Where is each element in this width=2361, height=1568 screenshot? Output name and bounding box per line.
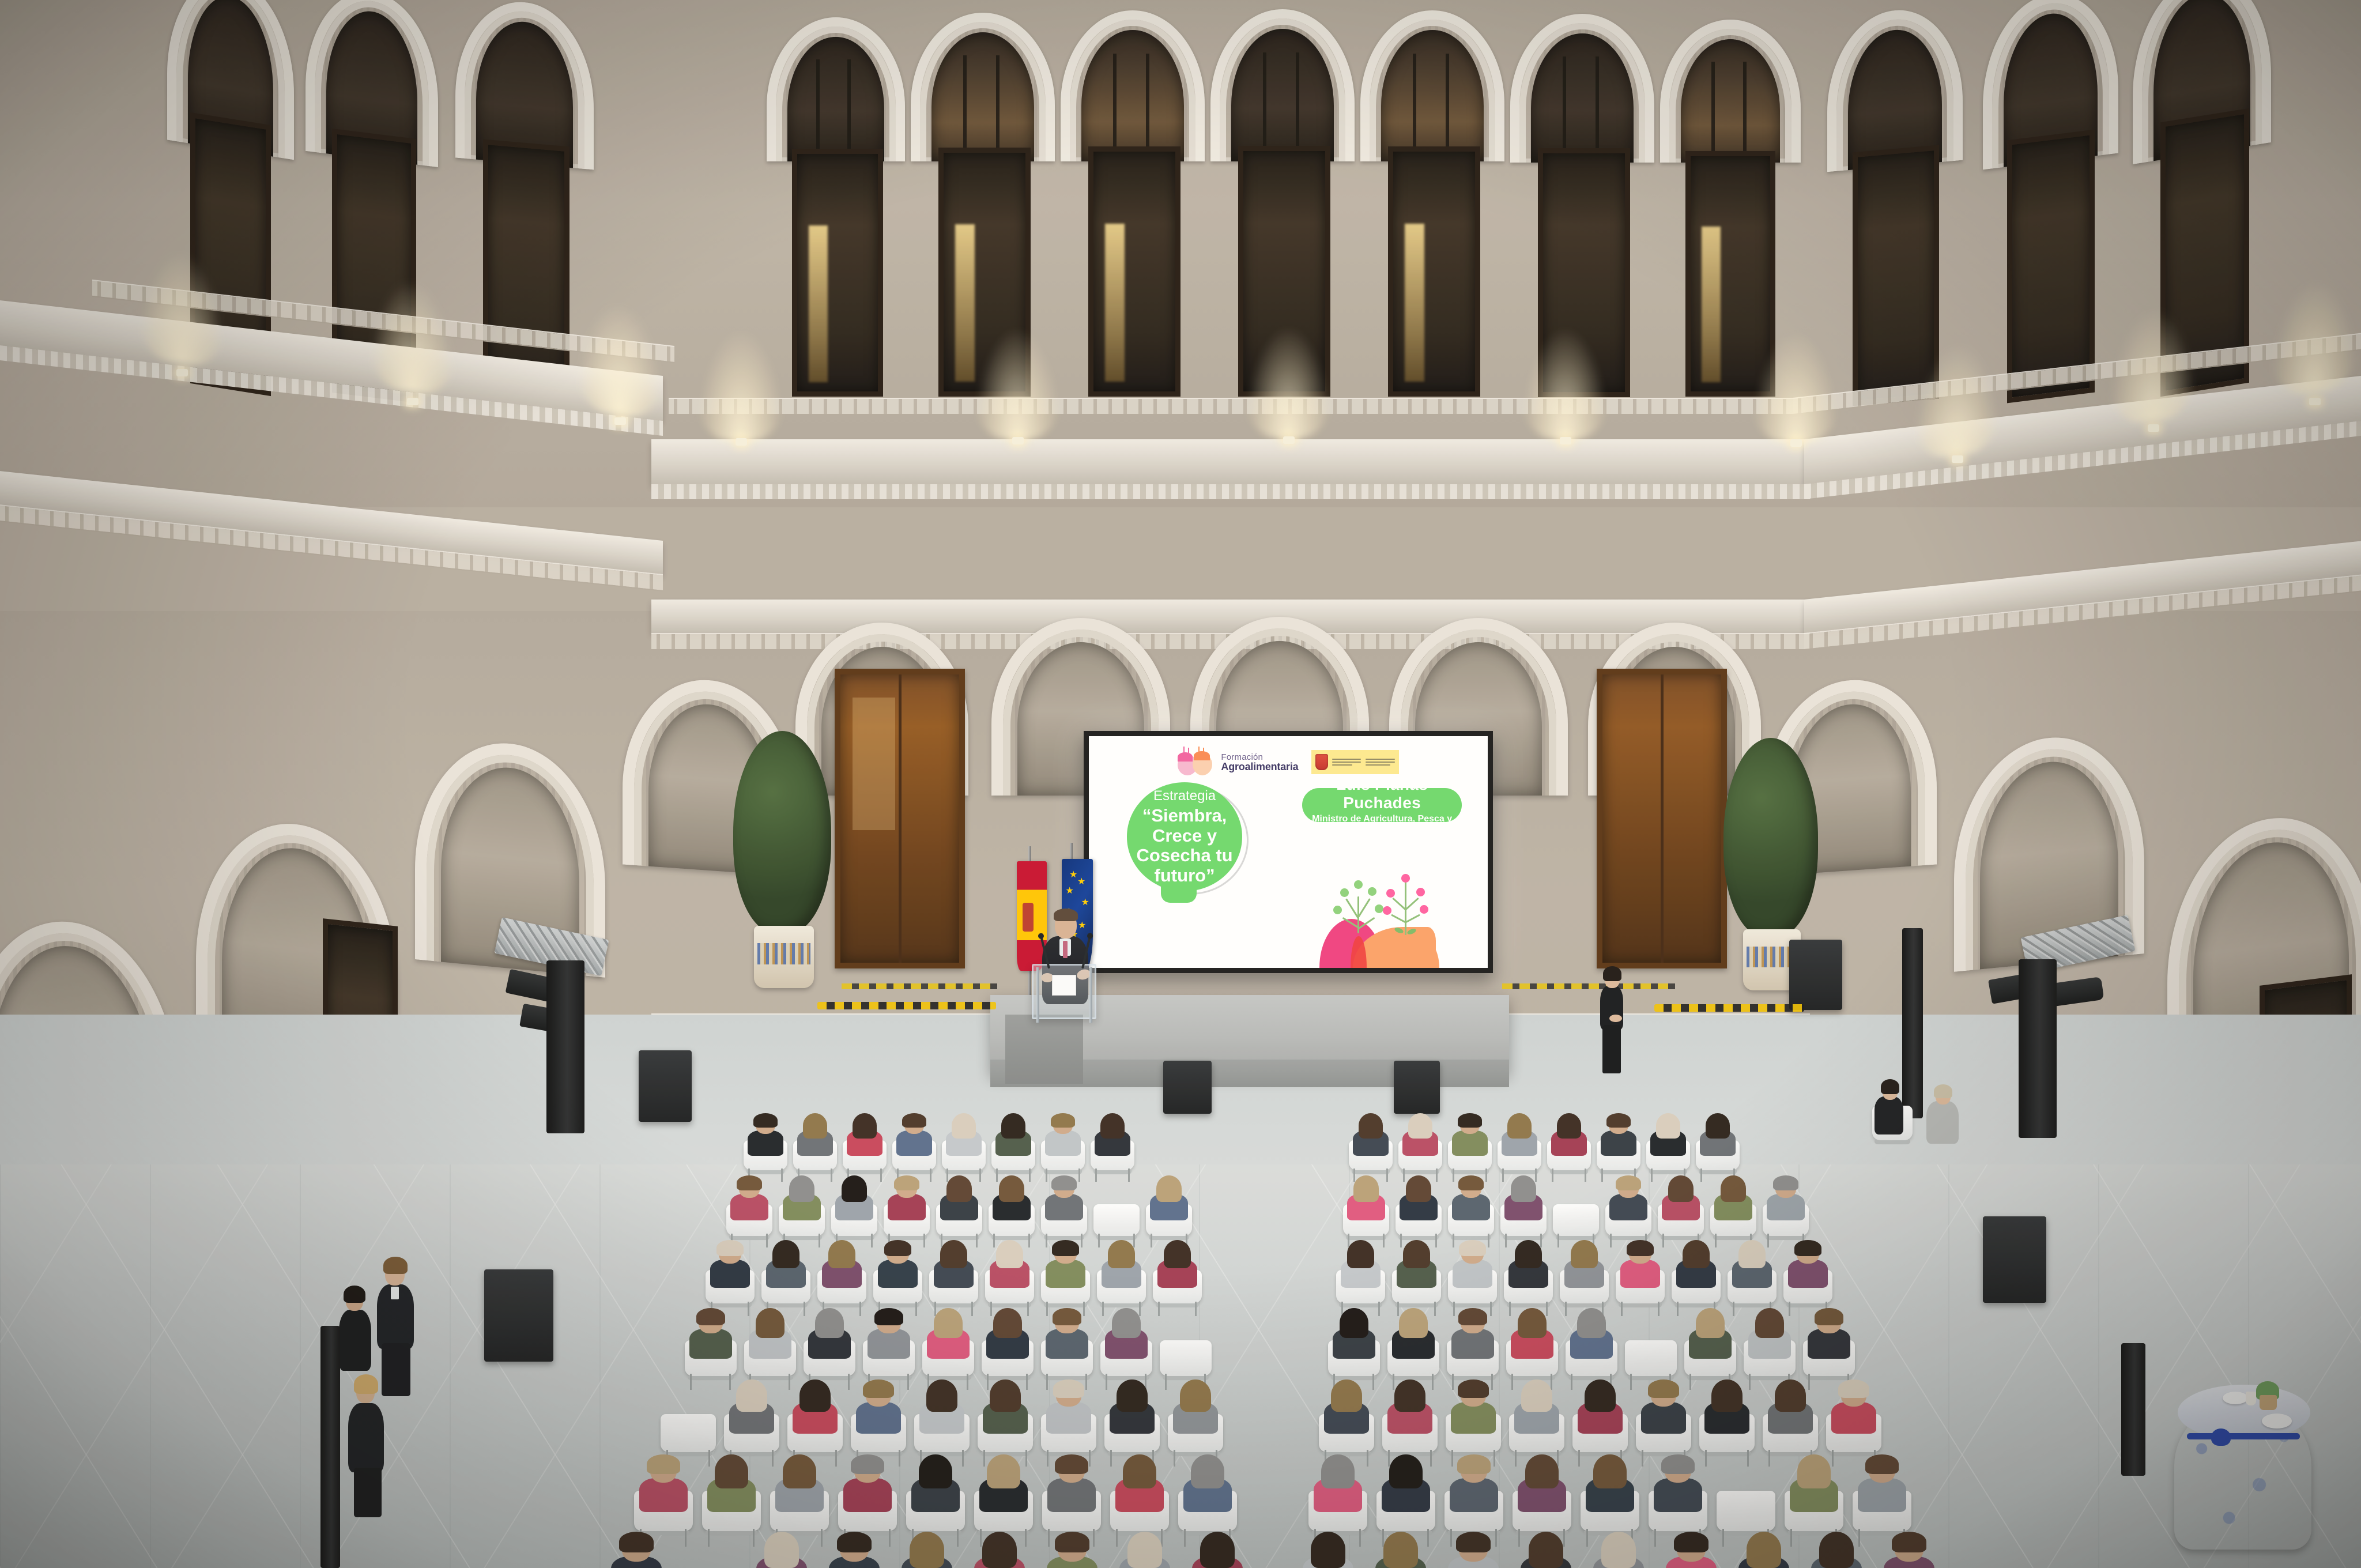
chair-leg [1654,1529,1656,1547]
audience-seat [1658,1175,1704,1238]
audience-seat [1649,1454,1707,1535]
audience-person-torso [1046,1260,1086,1288]
audience-person-hair [1711,1379,1743,1411]
audience-person-hair [789,1175,815,1202]
audience-seat [1597,1113,1640,1173]
audience-person-torso [1453,1260,1493,1288]
audience-seat [873,1239,922,1306]
audience-person-hair [987,1454,1020,1488]
speaker-hair [1054,909,1078,921]
speaker-tie [1063,941,1068,958]
audience-seat [1636,1379,1691,1455]
audience-seat [1878,1531,1940,1568]
audience-seat [1803,1307,1855,1379]
audience-seat [942,1113,986,1173]
audience-person-hair [1557,1113,1582,1139]
audience-seat [787,1379,843,1455]
audience-chair [1553,1204,1599,1236]
audience-person-hair [815,1308,844,1338]
audience-seat [793,1113,837,1173]
spain-coat-of-arms [1023,903,1034,931]
audience-person-hair [1773,1175,1799,1190]
audience-seat [1297,1531,1359,1568]
audience-seat [884,1175,930,1238]
audience-seat [1572,1379,1628,1455]
table-bow-ribbon [2187,1433,2300,1439]
audience-person-hair [1180,1379,1211,1411]
chair-leg [1621,1302,1623,1317]
chair-leg [1557,1234,1559,1247]
table-plate-2 [2262,1414,2292,1428]
audience-person-torso [1831,1402,1877,1434]
staff-hair [1603,966,1621,981]
audience-seat [1160,1307,1212,1379]
audience-chair [1160,1340,1212,1376]
subwoofer-left-lower [484,1269,553,1362]
audience-person-hair [1794,1240,1822,1256]
subwoofer-left [639,1050,692,1122]
uplight-fixture-right-2 [2148,424,2159,432]
audience-seat [982,1307,1034,1379]
audience-seat [929,1239,978,1306]
audience-seat [1091,1113,1134,1173]
audience-seat [1646,1113,1690,1173]
chair-leg [1722,1529,1724,1547]
audience-person-hair [1340,1308,1368,1338]
chair-leg [1630,1374,1632,1389]
audience-person-hair [946,1175,972,1202]
audience-seat [1763,1379,1818,1455]
audience-person-hair [1529,1532,1563,1567]
audience-person-hair [715,1454,748,1488]
audience-seat [1587,1531,1650,1568]
podium-emblem-plate [1052,975,1076,996]
upper-arch-right-a [1827,5,1963,172]
audience-chair [661,1414,716,1452]
staff-torso [1600,986,1623,1030]
speaker-stack-right [2019,959,2057,1138]
audience-seat [1376,1454,1435,1535]
audience-person-hair [1585,1379,1616,1411]
audience-seat [1370,1531,1432,1568]
audience-person-torso [730,1194,768,1220]
audience-person-torso [856,1402,902,1434]
chair-leg [821,1529,823,1547]
audience-person-hair [772,1240,800,1268]
audience-seat [1097,1239,1146,1306]
audience-person-torso [1452,1130,1488,1156]
gallery-window-6 [1538,148,1630,397]
chair-leg [1165,1374,1167,1389]
audience-seat [1763,1175,1809,1238]
audience-seat [1448,1175,1494,1238]
audience-person-hair [803,1113,828,1139]
audience-seat [1446,1379,1501,1455]
audience-person-torso [1451,1402,1496,1434]
audience-person-hair [1117,1379,1148,1411]
audience-seat [1387,1307,1439,1379]
subwoofer-right [1789,940,1842,1010]
audience-person-hair [853,1113,877,1139]
podium-leg-left [1036,967,1039,1023]
audience-seat [1625,1307,1677,1379]
audience-person-hair [1838,1379,1869,1398]
audience-seat [1733,1531,1795,1568]
uplight-fixture-5 [1790,439,1802,447]
audience-person-hair [1055,1532,1089,1552]
audience-person-hair [842,1175,868,1202]
audience-person-torso [888,1194,926,1220]
audience-seat [1336,1239,1385,1306]
audience-person-hair [1511,1175,1537,1202]
audience-seat [817,1239,866,1306]
audience-seat [1396,1175,1442,1238]
audience-person-hair [1051,1175,1077,1190]
audience-person-hair [902,1113,927,1128]
audience-person-hair [952,1113,976,1139]
audience-seat [1783,1239,1832,1306]
upper-arch-7 [1660,20,1801,163]
upper-arch-5 [1360,10,1504,161]
audience-seat [1672,1239,1721,1306]
two-faces-icon [1178,747,1216,778]
audience-seat [724,1379,779,1455]
audience-person-hair [1865,1454,1898,1474]
speaker-column-left-foreground [320,1326,340,1568]
potted-plant-left [727,731,843,996]
audience-seat [761,1239,810,1306]
audience-chair [1717,1491,1775,1531]
audience-seat [1343,1175,1389,1238]
audience-person-hair [1815,1308,1843,1325]
audience-seat [1041,1307,1093,1379]
gallery-window-4 [1238,146,1330,397]
audience-seat [823,1531,885,1568]
audience-seat [1104,1379,1160,1455]
chair-leg [915,1302,917,1317]
audience-person-hair [716,1240,744,1256]
gallery-window-right-a [1853,145,1939,406]
audience-seat [1504,1239,1553,1306]
audience-seat [1448,1113,1492,1173]
audience-person-hair [1458,1308,1487,1325]
chair-leg [899,1450,900,1467]
audience-seat [770,1454,829,1535]
audience-person-hair [1112,1308,1141,1338]
speaker-role: Ministro de Agricultura, Pesca y Aliment… [1302,814,1462,835]
audience-person-hair [1525,1454,1558,1488]
audience-person-hair [647,1454,680,1474]
chair-leg [1578,1450,1580,1467]
audience-person-hair [1383,1532,1418,1567]
audience-seat [843,1113,887,1173]
audience-seat [906,1454,965,1535]
audience-person-torso [1641,1402,1687,1434]
audience-person-hair [1706,1113,1730,1139]
audience-person-hair [1156,1175,1182,1202]
audience-person-torso [1808,1329,1850,1359]
audience-seat [1041,1175,1087,1238]
uplight-fixture-2 [1012,437,1024,444]
audience-seat [1605,1175,1651,1238]
audience-person-hair [1577,1308,1606,1338]
audience-person-hair [926,1379,957,1411]
audience-person-torso [1601,1130,1636,1156]
audience-person-hair [1819,1532,1854,1567]
audience-seat [1500,1175,1547,1238]
audience-seat [1110,1454,1169,1535]
audience-person-hair [1797,1454,1830,1488]
audience-seat [831,1175,877,1238]
audience-person-hair [1616,1175,1642,1190]
audience-person-hair [1403,1240,1431,1268]
staff-left-3 [340,1371,393,1521]
audience-person-torso [1767,1194,1805,1220]
audience-person-torso [748,1130,783,1156]
audience-person-hair [1053,1308,1081,1325]
audience-person-torso [1450,1478,1498,1512]
audience-person-hair [1200,1532,1235,1567]
audience-person-hair [736,1379,767,1411]
audience-person-hair [1656,1113,1681,1139]
audience-person-hair [1347,1240,1375,1268]
bubble-quote-line-2: Cosecha tu futuro” [1132,846,1238,885]
audience-seat [989,1175,1035,1238]
formacion-agroalimentaria-logo: Formación Agroalimentaria [1178,747,1298,778]
audience-person-torso [639,1478,688,1512]
audience-person-hair [753,1113,778,1128]
audience-person-hair [1052,1240,1080,1256]
audience-person-hair [1668,1175,1694,1202]
upper-arch-4 [1210,9,1355,161]
uplight-fixture-4 [1560,437,1571,444]
audience-chair [1625,1340,1677,1376]
audience-person-torso [1045,1130,1081,1156]
audience-seat [1041,1531,1103,1568]
subwoofer-right-lower [1983,1216,2046,1303]
audience-seat [1560,1239,1609,1306]
audience-person-hair [1108,1240,1136,1268]
audience-seat [1710,1175,1756,1238]
audience-seat [1349,1113,1393,1173]
audience-person-hair [1321,1454,1354,1488]
uplight-fixture-left-1 [176,369,188,376]
audience-seat [1041,1239,1090,1306]
audience-seat [1660,1531,1722,1568]
chair-leg [871,1234,873,1247]
audience-seat [750,1531,813,1568]
audience-person-hair [1359,1113,1383,1139]
projection-screen-frame: Formación Agroalimentaria Estrategia “Si… [1084,731,1493,973]
logo-line-2: Agroalimentaria [1221,762,1298,772]
cable-ramp-left [817,1002,996,1009]
speaker-column-bottom-right [2121,1343,2145,1476]
audience-seat [1442,1531,1504,1568]
audience-seat [706,1239,755,1306]
staff-hands [1609,1015,1622,1022]
audience-seat [922,1307,974,1379]
audience-seat [726,1175,772,1238]
chair-leg [1642,1450,1643,1467]
gob-text-block-2 [1366,759,1395,766]
audience-seat [1744,1307,1796,1379]
audience-person-hair [1457,1454,1490,1474]
gallery-window-3 [1088,146,1180,397]
audience-seat [1513,1454,1571,1535]
audience-person-hair [1674,1532,1708,1552]
table-centerpiece-pot [2260,1395,2277,1410]
audience-person-hair [1521,1379,1552,1411]
audience-person-hair [940,1240,968,1268]
audience-person-hair [1747,1532,1781,1567]
audience-person-hair [1399,1308,1428,1338]
audience-person-hair [1191,1454,1224,1488]
stage-monitor-right [1394,1061,1440,1114]
audience-person-hair [737,1175,763,1190]
audience-seat [896,1531,958,1568]
audience-person-hair [1458,1113,1483,1128]
audience-seat [1553,1175,1599,1238]
gallery-window-1 [792,149,883,397]
audience-seat [1785,1454,1843,1535]
chair-leg [1184,1529,1186,1547]
side-guest-right-1 [1866,1076,1910,1139]
audience-person-hair [1100,1113,1125,1139]
audience-person-hair [1648,1379,1679,1398]
audience-seat [1382,1379,1438,1455]
audience-seat [744,1113,787,1173]
audience-seat [661,1379,716,1455]
audience-person-hair [863,1379,894,1398]
audience-seat [851,1379,906,1455]
audience-seat [1042,1454,1101,1535]
audience-person-hair [1571,1240,1598,1268]
upper-arch-2 [911,13,1055,161]
audience-person-hair [1051,1113,1076,1128]
strategy-speech-bubble: Estrategia “Siembra, Crece y Cosecha tu … [1127,782,1243,891]
audience-person-hair [1606,1113,1631,1128]
gallery-window-2 [938,148,1031,397]
audience-seat [1696,1113,1740,1173]
gallery-window-5 [1388,146,1480,397]
audience-person-torso [1046,1402,1092,1434]
chair-leg [907,1374,909,1389]
audience-person-hair [1696,1308,1725,1338]
upper-arch-6 [1510,14,1654,163]
audience-seat [1805,1531,1868,1568]
audience-seat [1392,1239,1441,1306]
uplight-fixture-left-3 [614,417,626,425]
audience-person-hair [1661,1454,1694,1474]
audience-person-hair [1123,1454,1156,1488]
chair-leg [1174,1450,1175,1467]
audience-person-hair [764,1532,799,1567]
chair-leg [1601,1169,1603,1182]
audience-seat [1041,1113,1085,1173]
audience-seat [1853,1454,1911,1535]
audience-person-hair [1055,1454,1088,1474]
audience-seat [1308,1454,1367,1535]
audience-person-hair [1775,1379,1806,1411]
audience-person-hair [1518,1308,1547,1338]
bubble-quote-line-1: “Siembra, Crece y [1132,806,1238,846]
pot-pattern-left [757,943,810,964]
uplight-fixture-right-3 [2309,398,2321,405]
audience-seat [863,1307,915,1379]
audience-person-hair [1164,1240,1191,1268]
audience-person-torso [1451,1329,1494,1359]
audience-person-hair [1456,1532,1491,1552]
event-photo-scene: Formación Agroalimentaria Estrategia “Si… [0,0,2361,1568]
table-plate-1 [2223,1392,2248,1404]
speaker-name: Luis Planas Puchades [1302,775,1462,812]
uplight-fixture-1 [736,438,747,446]
audience-person-hair [990,1379,1021,1411]
audience-seat [1509,1379,1564,1455]
glass-podium [1032,964,1096,1019]
audience-person-hair [1127,1532,1162,1567]
audience-person-hair [919,1454,952,1488]
audience-seat [1515,1531,1577,1568]
audience-person-hair [783,1454,816,1488]
audience-seat [1168,1379,1223,1455]
audience-seat [779,1175,825,1238]
audience-seat [678,1531,740,1568]
stage-monitor-left [1163,1061,1212,1114]
chair-leg [859,1302,861,1317]
audience-person-hair [1458,1175,1484,1190]
audience-person-hair [1459,1240,1487,1256]
audience-seat [1547,1113,1591,1173]
chair-leg [848,1374,850,1389]
uplight-fixture-right-1 [1952,455,1963,463]
audience-person-torso [1609,1194,1647,1220]
audience-seat [838,1454,897,1535]
audience-seat [1506,1307,1558,1379]
audience-seat [1093,1175,1140,1238]
audience-seat [1498,1113,1541,1173]
uplight-fixture-left-2 [407,398,418,405]
audience-person-torso [1654,1478,1702,1512]
audience-person-hair [874,1308,903,1325]
podium-leg-right [1089,967,1092,1023]
audience-seat [1448,1239,1497,1306]
audience-person-hair [799,1379,831,1411]
upper-arch-1 [767,17,905,161]
audience-chair [1093,1204,1140,1236]
table-bow-knot [2211,1428,2231,1446]
audience-person-hair [1311,1532,1345,1567]
audience-person-hair [696,1308,725,1325]
audience-seat [914,1379,970,1455]
staff-legs [1602,1025,1621,1073]
audience-seat [991,1113,1035,1173]
cable-ramp-right [1654,1004,1804,1012]
audience-person-torso [1047,1478,1096,1512]
audience-person-hair [756,1308,785,1338]
audience-seat [1146,1175,1192,1238]
pink-flower-sprig [1377,875,1434,935]
audience-person-torso [689,1329,732,1359]
audience-person-torso [868,1329,910,1359]
wooden-door-right [1597,669,1727,968]
audience-seat [1319,1379,1374,1455]
stage-safety-tape-left [842,983,997,989]
audience-person-hair [828,1240,856,1268]
audience-seat [605,1531,667,1568]
chair-leg [923,1234,925,1247]
chair-leg [1359,1529,1361,1547]
